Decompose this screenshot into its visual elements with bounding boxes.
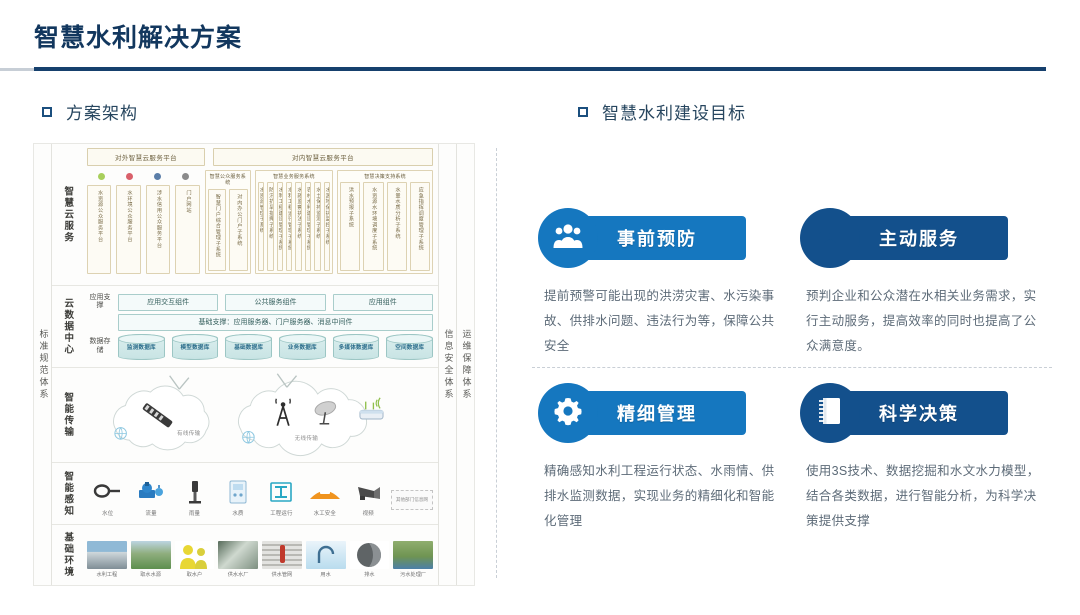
water-level-sensor-icon (87, 477, 128, 507)
sewage-plant-thumbnail (393, 541, 433, 569)
database-cylinder: 多媒体数据库 (333, 334, 380, 360)
sensor-hydraulic-safety: 水工安全 (304, 477, 345, 517)
base-support-box: 基础支撑：应用服务器、门户服务器、消息中间件 (118, 314, 433, 331)
layer-name-environment: 基础环境 (52, 525, 82, 585)
component-box: 公共服务组件 (225, 294, 325, 311)
subsystem-group-decision: 智慧决策支持系统 洪水预报子系统 水资源水环境调度子系统 水量水质分析子系统 应… (337, 170, 433, 274)
notebook-icon (817, 396, 843, 431)
database-cylinder: 基础数据库 (225, 334, 272, 360)
transmission-clouds-graphic (87, 372, 433, 464)
section-header-architecture: 方案架构 (42, 99, 138, 124)
drop-icon (154, 173, 161, 180)
component-box: 应用交互组件 (118, 294, 218, 311)
sensor-other-department: 其他部门信息网 (391, 485, 433, 517)
water-use-thumbnail (306, 541, 346, 569)
platform-external-title: 对外智慧云服务平台 (87, 148, 205, 166)
subsystem-group-public: 智慧公众服务系统 智慧门户综合管理子系统 对内办公门户子系统 (205, 170, 251, 274)
goal-card-icon-circle (800, 383, 860, 443)
component-box: 应用组件 (333, 294, 433, 311)
subsystem-column: 水利工程建设管理子系统 (277, 182, 283, 271)
goal-card-icon-circle (800, 208, 860, 268)
layer-name-sensing: 智能感知 (52, 463, 82, 524)
water-quality-analyzer-icon (217, 477, 258, 507)
platform-titles: 对外智慧云服务平台 对内智慧云服务平台 (87, 148, 433, 166)
env-item: 水利工程 (87, 541, 127, 578)
people-icon (552, 223, 584, 254)
waterworks-thumbnail (218, 541, 258, 569)
pipe-network-thumbnail (262, 541, 302, 569)
row-tag-app-support: 应用支撑 (87, 294, 113, 310)
page-title: 智慧水利解决方案 (34, 18, 242, 54)
env-item: 取水水源 (131, 541, 171, 578)
horizontal-divider (532, 367, 1052, 368)
hydraulic-safety-icon (304, 477, 345, 507)
external-column: 水资源公众服务平台 (87, 185, 111, 274)
goal-card-scientific-decision[interactable]: 科学决策 使用3S技术、数据挖掘和水文水力模型，结合各类数据，进行智能分析，为科… (800, 383, 1040, 534)
goal-card-prevention[interactable]: 事前预防 提前预警可能出现的洪涝灾害、水污染事故、供排水问题、违法行为等，保障公… (538, 208, 778, 359)
side-label-standards: 标准规范体系 (34, 144, 52, 585)
side-label-operations-guarantee: 运维保障体系 (456, 144, 474, 585)
database-cylinder: 空间数据库 (386, 334, 433, 360)
env-item: 排水 (350, 541, 390, 578)
search-icon (182, 173, 189, 180)
subsystem-column: 防汛抗旱指挥子系统 (267, 182, 273, 271)
sensor-rainfall: 雨量 (174, 477, 215, 517)
other-department-box: 其他部门信息网 (391, 490, 433, 510)
goal-card-fine-management[interactable]: 精细管理 精确感知水利工程运行状态、水雨情、供排水监测数据，实现业务的精细化和智… (538, 383, 778, 534)
layer-transmission: 智能传输 (52, 368, 438, 463)
env-item: 取水户 (175, 541, 215, 578)
goal-card-description: 精确感知水利工程运行状态、水雨情、供排水监测数据，实现业务的精细化和智能化管理 (544, 459, 778, 534)
subsystem-column: 水利工程运行管理子系统 (286, 182, 292, 271)
external-platform-group: 水资源公众服务平台 水环境公众服务平台 涉水信用公众服务平台 门户网站 (87, 170, 200, 274)
goal-card-description: 预判企业和公众潜在水相关业务需求，实行主动服务，提高效率的同时也提高了公众满意度… (806, 284, 1040, 359)
title-rule-accent (0, 68, 36, 71)
flow-meter-icon (130, 477, 171, 507)
platform-internal-title: 对内智慧云服务平台 (213, 148, 433, 166)
water-source-thumbnail (131, 541, 171, 569)
subsystem-column: 对内办公门户子系统 (229, 189, 248, 272)
env-item: 污水处理厂 (393, 541, 433, 578)
env-item: 供水管网 (262, 541, 302, 578)
project-operation-icon (261, 477, 302, 507)
drainage-thumbnail (350, 541, 390, 569)
database-cylinder: 业务数据库 (279, 334, 326, 360)
subsystem-column: 智慧门户综合管理子系统 (208, 189, 227, 272)
sensor-project-operation: 工程运行 (261, 477, 302, 517)
goal-card-description: 提前预警可能出现的洪涝灾害、水污染事故、供排水问题、违法行为等，保障公共安全 (544, 284, 778, 359)
internal-platform-group: 智慧公众服务系统 智慧门户综合管理子系统 对内办公门户子系统 智慧业务服务系统 … (205, 170, 433, 274)
database-cylinder: 监测数据库 (118, 334, 165, 360)
layer-name-data-center: 云数据中心 (52, 286, 82, 367)
camera-icon (348, 477, 389, 507)
subsystem-column: 农村水利建设管理子系统 (305, 182, 311, 271)
water-project-thumbnail (87, 541, 127, 569)
layer-sensing: 智能感知 水位 流量 (52, 463, 438, 525)
subsystem-group-business: 智慧业务服务系统 水资源管理子系统 防汛抗旱指挥子系统 水利工程建设管理子系统 … (255, 170, 333, 274)
sensor-water-level: 水位 (87, 477, 128, 517)
title-rule (34, 67, 1046, 71)
database-cylinder: 模型数据库 (172, 334, 219, 360)
layer-cloud-services: 智慧云服务 对外智慧云服务平台 对内智慧云服务平台 (52, 144, 438, 286)
gear-icon (553, 396, 583, 431)
goal-card-icon-circle (538, 208, 598, 268)
alert-icon (126, 173, 133, 180)
goal-card-description: 使用3S技术、数据挖掘和水文水力模型，结合各类数据，进行智能分析，为科学决策提供… (806, 459, 1040, 534)
water-user-icon (175, 541, 215, 569)
architecture-diagram: 标准规范体系 智慧云服务 对外智慧云服务平台 对内智慧云服务平台 (33, 143, 475, 586)
row-tag-data-storage: 数据存储 (87, 338, 113, 354)
section-label-architecture: 方案架构 (66, 99, 138, 124)
goal-card-proactive-service[interactable]: 主动服务 预判企业和公众潜在水相关业务需求，实行主动服务，提高效率的同时也提高了… (800, 208, 1040, 359)
subsystem-column: 水资源管理子系统 (258, 182, 264, 271)
layer-name-transmission: 智能传输 (52, 368, 82, 462)
subsystem-column: 水源地保护监控子系统 (324, 182, 330, 271)
external-column: 水环境公众服务平台 (116, 185, 140, 274)
vertical-divider (496, 148, 497, 578)
leaf-icon (98, 173, 105, 180)
subsystem-column: 水土保持监测子系统 (314, 182, 320, 271)
rain-gauge-icon (174, 477, 215, 507)
bullet-square-icon (578, 107, 588, 117)
external-column: 涉水信用公众服务平台 (146, 185, 170, 274)
architecture-layers: 智慧云服务 对外智慧云服务平台 对内智慧云服务平台 (52, 144, 438, 585)
layer-environment: 基础环境 水利工程 取水水源 取 (52, 525, 438, 585)
subsystem-column: 水政监察执法子系统 (295, 182, 301, 271)
env-item: 供水水厂 (218, 541, 258, 578)
cloud-label-wireless: 无线传输 (295, 434, 319, 442)
layer-data-center: 云数据中心 应用支撑 应用交互组件 公共服务组件 应用组件 基础支撑：应用 (52, 286, 438, 368)
side-label-information-security: 信息安全体系 (438, 144, 456, 585)
goal-card-icon-circle (538, 383, 598, 443)
external-column: 门户网站 (175, 185, 199, 274)
env-item: 用水 (306, 541, 346, 578)
layer-name-cloud-services: 智慧云服务 (52, 144, 82, 285)
section-header-goals: 智慧水利建设目标 (578, 99, 746, 124)
bullet-square-icon (42, 107, 52, 117)
handshake-icon (815, 224, 845, 253)
page-header: 智慧水利解决方案 (0, 0, 1080, 72)
sensor-flow: 流量 (130, 477, 171, 517)
section-label-goals: 智慧水利建设目标 (602, 99, 746, 124)
sensor-video: 视频 (348, 477, 389, 517)
subsystem-column: 洪水预报子系统 (340, 182, 360, 271)
subsystem-column: 水量水质分析子系统 (387, 182, 407, 271)
sensor-water-quality: 水质 (217, 477, 258, 517)
subsystem-column: 水资源水环境调度子系统 (363, 182, 383, 271)
subsystem-column: 应急指挥调度管理子系统 (410, 182, 430, 271)
cloud-label-wired: 有线传输 (177, 429, 201, 437)
